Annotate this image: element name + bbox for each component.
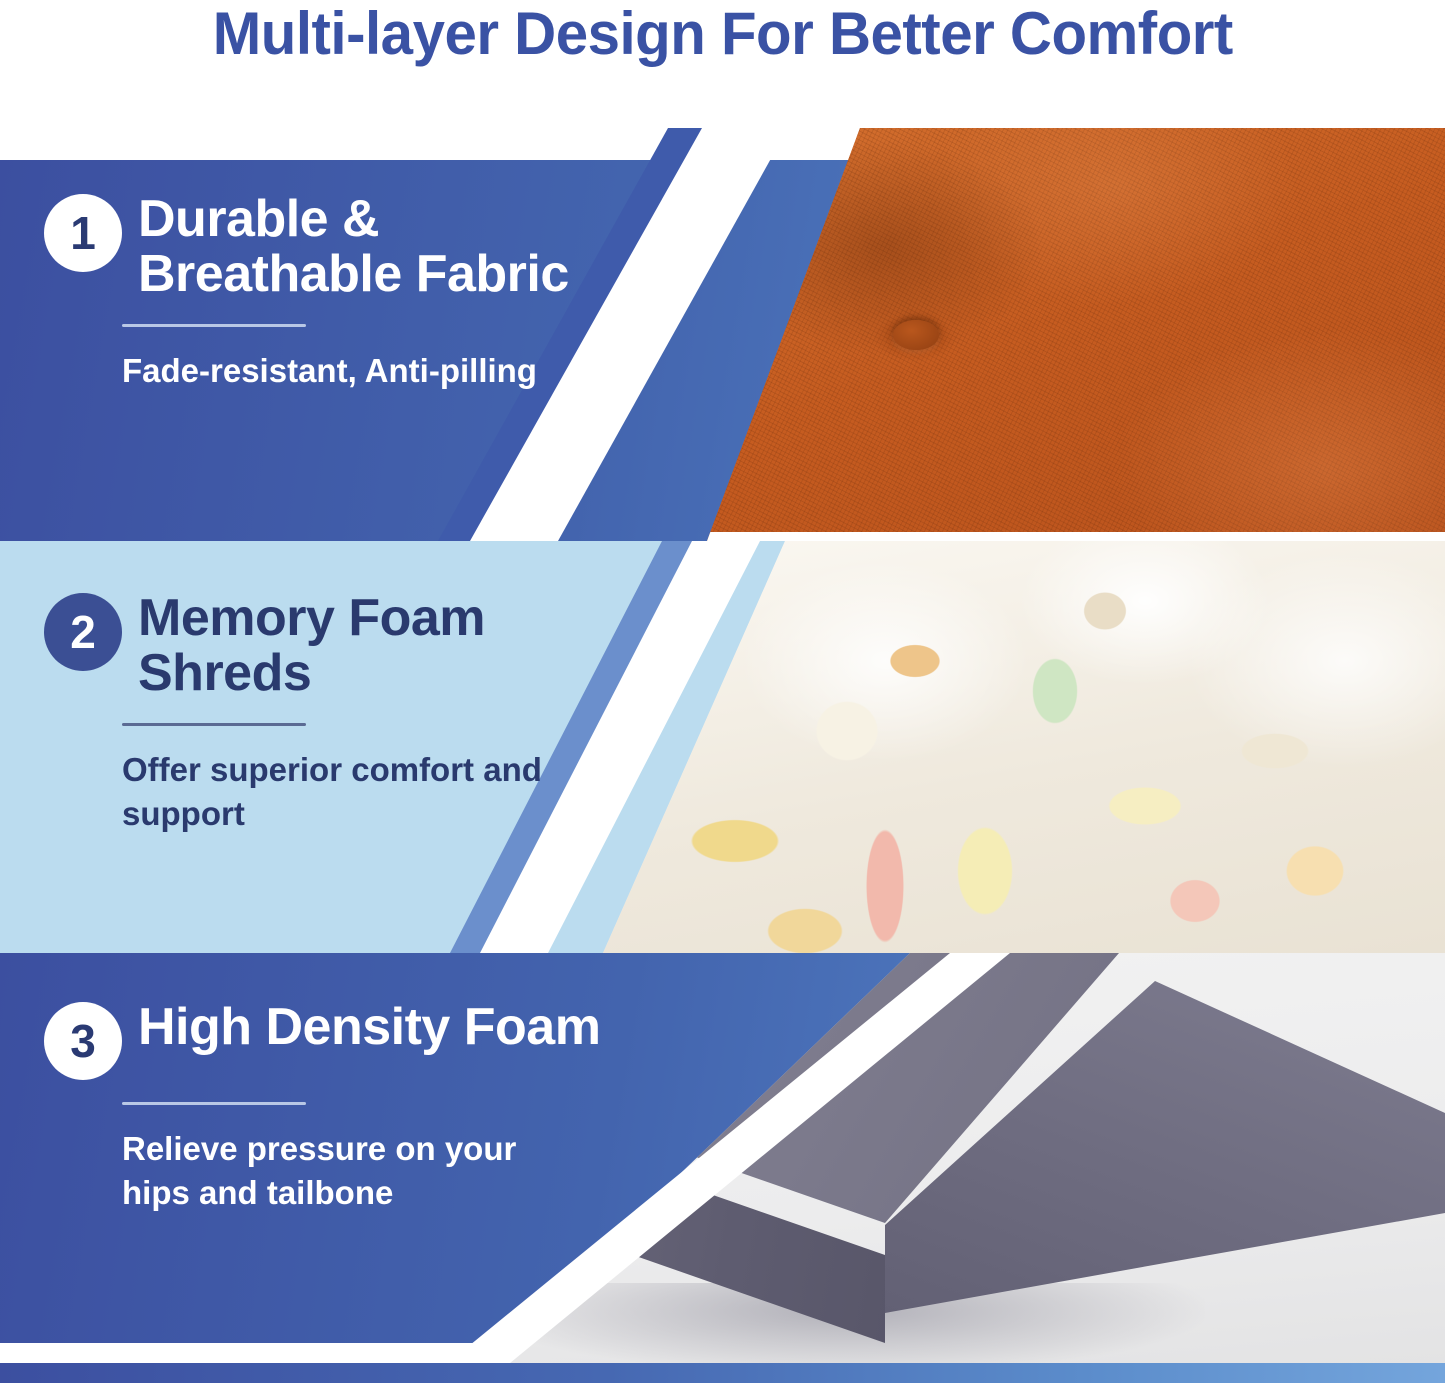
panel-2-heading-row: 2 Memory Foam Shreds [44, 589, 644, 701]
panel-1-heading: Durable & Breathable Fabric [138, 190, 644, 302]
panel-1-text: 1 Durable & Breathable Fabric Fade-resis… [44, 190, 644, 393]
panel-3-heading-row: 3 High Density Foam [44, 998, 644, 1080]
step-number-badge-2: 2 [44, 593, 122, 671]
page-title: Multi-layer Design For Better Comfort [212, 0, 1232, 65]
panel-2-heading: Memory Foam Shreds [138, 589, 644, 701]
bottom-accent-strip [0, 1363, 1445, 1383]
step-number-badge-1: 1 [44, 194, 122, 272]
panel-3-subtext: Relieve pressure on your hips and tailbo… [122, 1127, 592, 1215]
panel-2-subtext: Offer superior comfort and support [122, 748, 592, 836]
panel-3-text: 3 High Density Foam Relieve pressure on … [44, 998, 644, 1215]
tufted-button-icon [893, 320, 939, 350]
panel-3-divider [122, 1102, 306, 1105]
step-number-badge-3: 3 [44, 1002, 122, 1080]
photo-bottom-edge [685, 532, 1445, 541]
panel-1-subtext: Fade-resistant, Anti-pilling [122, 349, 592, 393]
feature-panel-2: 2 Memory Foam Shreds Offer superior comf… [0, 541, 1445, 953]
feature-panel-1: 1 Durable & Breathable Fabric Fade-resis… [0, 128, 1445, 541]
panel-2-text: 2 Memory Foam Shreds Offer superior comf… [44, 589, 644, 836]
panel-1-heading-row: 1 Durable & Breathable Fabric [44, 190, 644, 302]
feature-panel-3: 3 High Density Foam Relieve pressure on … [0, 953, 1445, 1363]
title-bar: Multi-layer Design For Better Comfort [0, 0, 1445, 128]
panel-3-heading: High Density Foam [138, 998, 600, 1055]
panel-2-divider [122, 723, 306, 726]
panel-1-divider [122, 324, 306, 327]
